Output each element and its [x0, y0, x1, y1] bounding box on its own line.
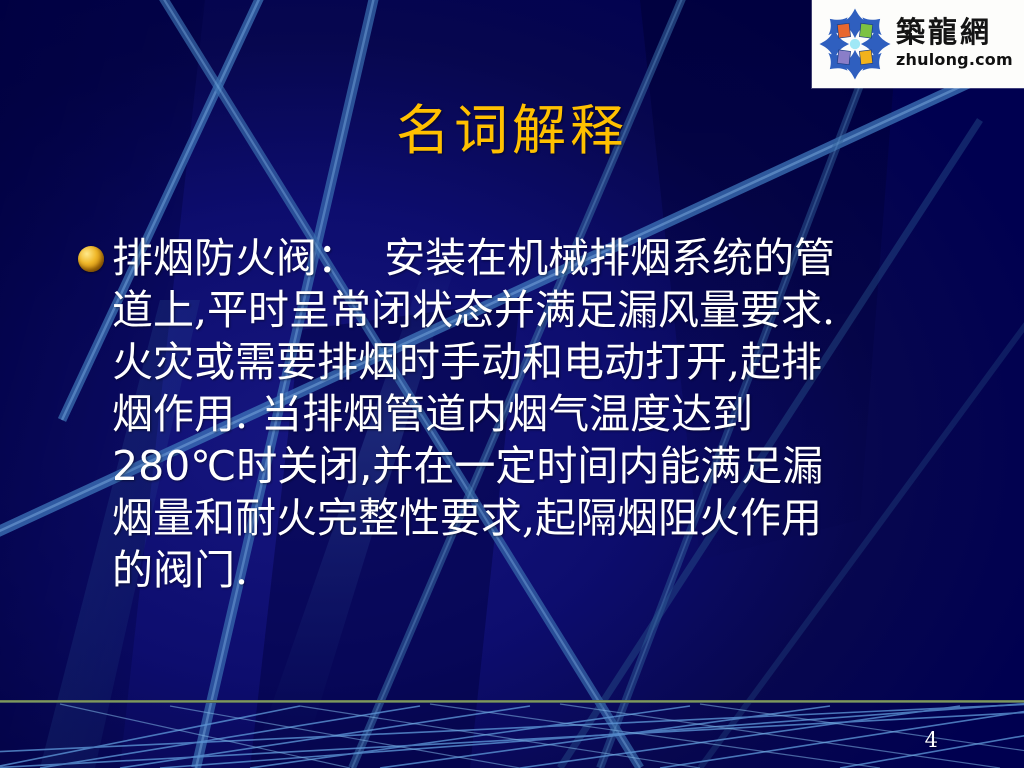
page-number: 4: [925, 728, 938, 752]
logo-url: zhulong.com: [896, 50, 1013, 69]
body-line: 280℃时关闭,并在一定时间内能满足漏: [112, 440, 958, 492]
slide-canvas: 築龍網 zhulong.com 名词解释 排烟防火阀： 安装在机械排烟系统的管 …: [0, 0, 1024, 768]
footer-divider: [0, 700, 1024, 703]
body-bullet-item: 排烟防火阀： 安装在机械排烟系统的管 道上,平时呈常闭状态并满足漏风量要求. 火…: [78, 232, 958, 596]
gold-sphere-bullet-icon: [78, 246, 104, 272]
logo-wordmark: 築龍網 zhulong.com: [896, 18, 1013, 69]
zhulong-flower-icon: [818, 7, 892, 81]
body-line: 的阀门.: [112, 544, 958, 596]
zhulong-logo: 築龍網 zhulong.com: [812, 0, 1024, 88]
logo-name-cn: 築龍網: [896, 18, 1013, 47]
page-title: 名词解释: [0, 103, 1024, 160]
body-line: 道上,平时呈常闭状态并满足漏风量要求.: [112, 284, 958, 336]
body-paragraph: 排烟防火阀： 安装在机械排烟系统的管 道上,平时呈常闭状态并满足漏风量要求. 火…: [112, 232, 958, 596]
body-line: 烟作用. 当排烟管道内烟气温度达到: [112, 388, 958, 440]
body-line: 烟量和耐火完整性要求,起隔烟阻火作用: [112, 492, 958, 544]
body-line: 火灾或需要排烟时手动和电动打开,起排: [112, 336, 958, 388]
body-line: 排烟防火阀： 安装在机械排烟系统的管: [112, 232, 958, 284]
